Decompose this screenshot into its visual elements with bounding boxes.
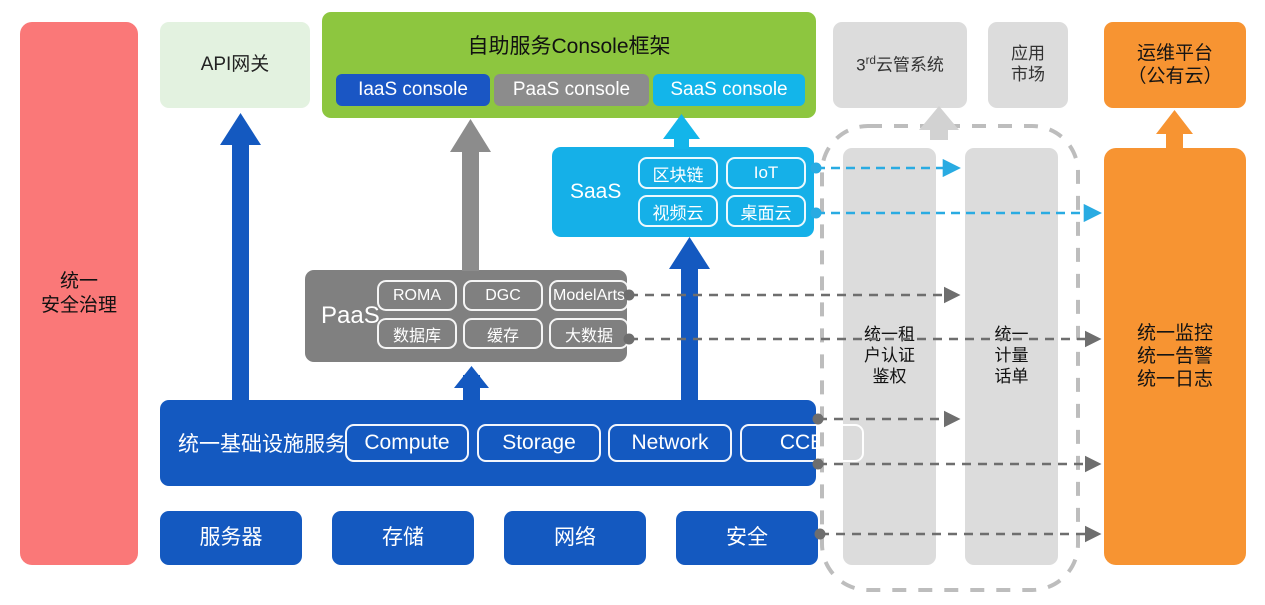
paas-item-dgc[interactable]: DGC [463, 280, 543, 311]
saas-label: SaaS [570, 180, 621, 204]
hardware-label-security: 安全 [726, 525, 768, 551]
shared-metering-column: 统一 计量 话单 [965, 148, 1058, 565]
arrow-paas-to-console [450, 119, 491, 271]
shared-auth-column: 统一租 户认证 鉴权 [843, 148, 936, 565]
hardware-box-security[interactable]: 安全 [676, 511, 818, 565]
hardware-label-server: 服务器 [200, 525, 263, 551]
paas-item-database[interactable]: 数据库 [377, 318, 457, 349]
paas-item-modelarts[interactable]: ModelArts [549, 280, 629, 311]
hardware-label-network: 网络 [554, 525, 596, 551]
shared-metering-line2: 计量 [995, 346, 1029, 367]
hardware-box-network[interactable]: 网络 [504, 511, 646, 565]
ops-platform-box[interactable]: 运维平台 （公有云） [1104, 22, 1246, 108]
ops-platform-line1: 运维平台 [1137, 42, 1213, 65]
app-market-box[interactable]: 应用 市场 [988, 22, 1068, 108]
shared-auth-line3: 鉴权 [873, 367, 907, 388]
arrow-saas-to-saas-console [663, 114, 700, 149]
security-governance-line2: 安全治理 [41, 294, 117, 317]
ops-monitoring-line1: 统一监控 [1137, 322, 1213, 345]
arrow-infra-to-paas [454, 366, 489, 402]
third-party-cloud-mgmt-box[interactable]: 3rd云管系统 [833, 22, 967, 108]
paas-item-bigdata[interactable]: 大数据 [549, 318, 629, 349]
saas-item-iot[interactable]: IoT [726, 157, 806, 189]
ops-monitoring-line3: 统一日志 [1137, 368, 1213, 391]
console-framework-box: 自助服务Console框架 IaaS console PaaS console … [322, 12, 816, 118]
api-gateway-box[interactable]: API网关 [160, 22, 310, 108]
hardware-label-storage: 存储 [382, 525, 424, 551]
arrow-shared-to-third-party [919, 106, 959, 140]
iaas-console-chip[interactable]: IaaS console [336, 74, 490, 106]
iaas-console-label: IaaS console [358, 79, 468, 101]
saas-console-label: SaaS console [670, 79, 787, 101]
saas-item-video-cloud[interactable]: 视频云 [638, 195, 718, 227]
saas-item-desktop-cloud[interactable]: 桌面云 [726, 195, 806, 227]
third-party-cloud-mgmt-label: 3rd云管系统 [856, 54, 944, 76]
hardware-box-server[interactable]: 服务器 [160, 511, 302, 565]
ops-monitoring-line2: 统一告警 [1137, 345, 1213, 368]
saas-console-chip[interactable]: SaaS console [653, 74, 805, 106]
unified-infrastructure-bar: 统一基础设施服务 Compute Storage Network CCE [160, 400, 816, 486]
infra-item-cce[interactable]: CCE [740, 424, 864, 462]
app-market-line1: 应用 [1011, 44, 1045, 65]
console-framework-title: 自助服务Console框架 [322, 30, 816, 60]
infra-item-network[interactable]: Network [608, 424, 732, 462]
arrow-infra-to-api-gateway [220, 113, 261, 401]
saas-box: SaaS 区块链 IoT 视频云 桌面云 [552, 147, 814, 237]
ops-platform-line2: （公有云） [1127, 65, 1222, 88]
hardware-box-storage[interactable]: 存储 [332, 511, 474, 565]
saas-item-blockchain[interactable]: 区块链 [638, 157, 718, 189]
api-gateway-label: API网关 [201, 53, 270, 76]
paas-console-chip[interactable]: PaaS console [494, 74, 649, 106]
infra-item-compute[interactable]: Compute [345, 424, 469, 462]
security-governance-column: 统一 安全治理 [20, 22, 138, 565]
paas-box: PaaS ROMA DGC ModelArts 数据库 缓存 大数据 [305, 270, 627, 362]
arrow-ops-column-to-ops-platform [1156, 110, 1193, 149]
shared-auth-line2: 户认证 [864, 346, 915, 367]
paas-console-label: PaaS console [513, 79, 630, 101]
security-governance-line1: 统一 [60, 270, 98, 293]
shared-metering-line3: 话单 [995, 367, 1029, 388]
arrow-infra-to-saas [669, 237, 710, 402]
paas-item-roma[interactable]: ROMA [377, 280, 457, 311]
infra-item-storage[interactable]: Storage [477, 424, 601, 462]
shared-auth-line1: 统一租 [864, 325, 915, 346]
ops-monitoring-column: 统一监控 统一告警 统一日志 [1104, 148, 1246, 565]
paas-label: PaaS [321, 302, 380, 330]
unified-infrastructure-label: 统一基础设施服务 [178, 428, 346, 458]
paas-item-cache[interactable]: 缓存 [463, 318, 543, 349]
app-market-line2: 市场 [1011, 65, 1045, 86]
shared-metering-line1: 统一 [995, 325, 1029, 346]
architecture-diagram: 统一 安全治理 API网关 自助服务Console框架 IaaS console… [0, 0, 1265, 605]
